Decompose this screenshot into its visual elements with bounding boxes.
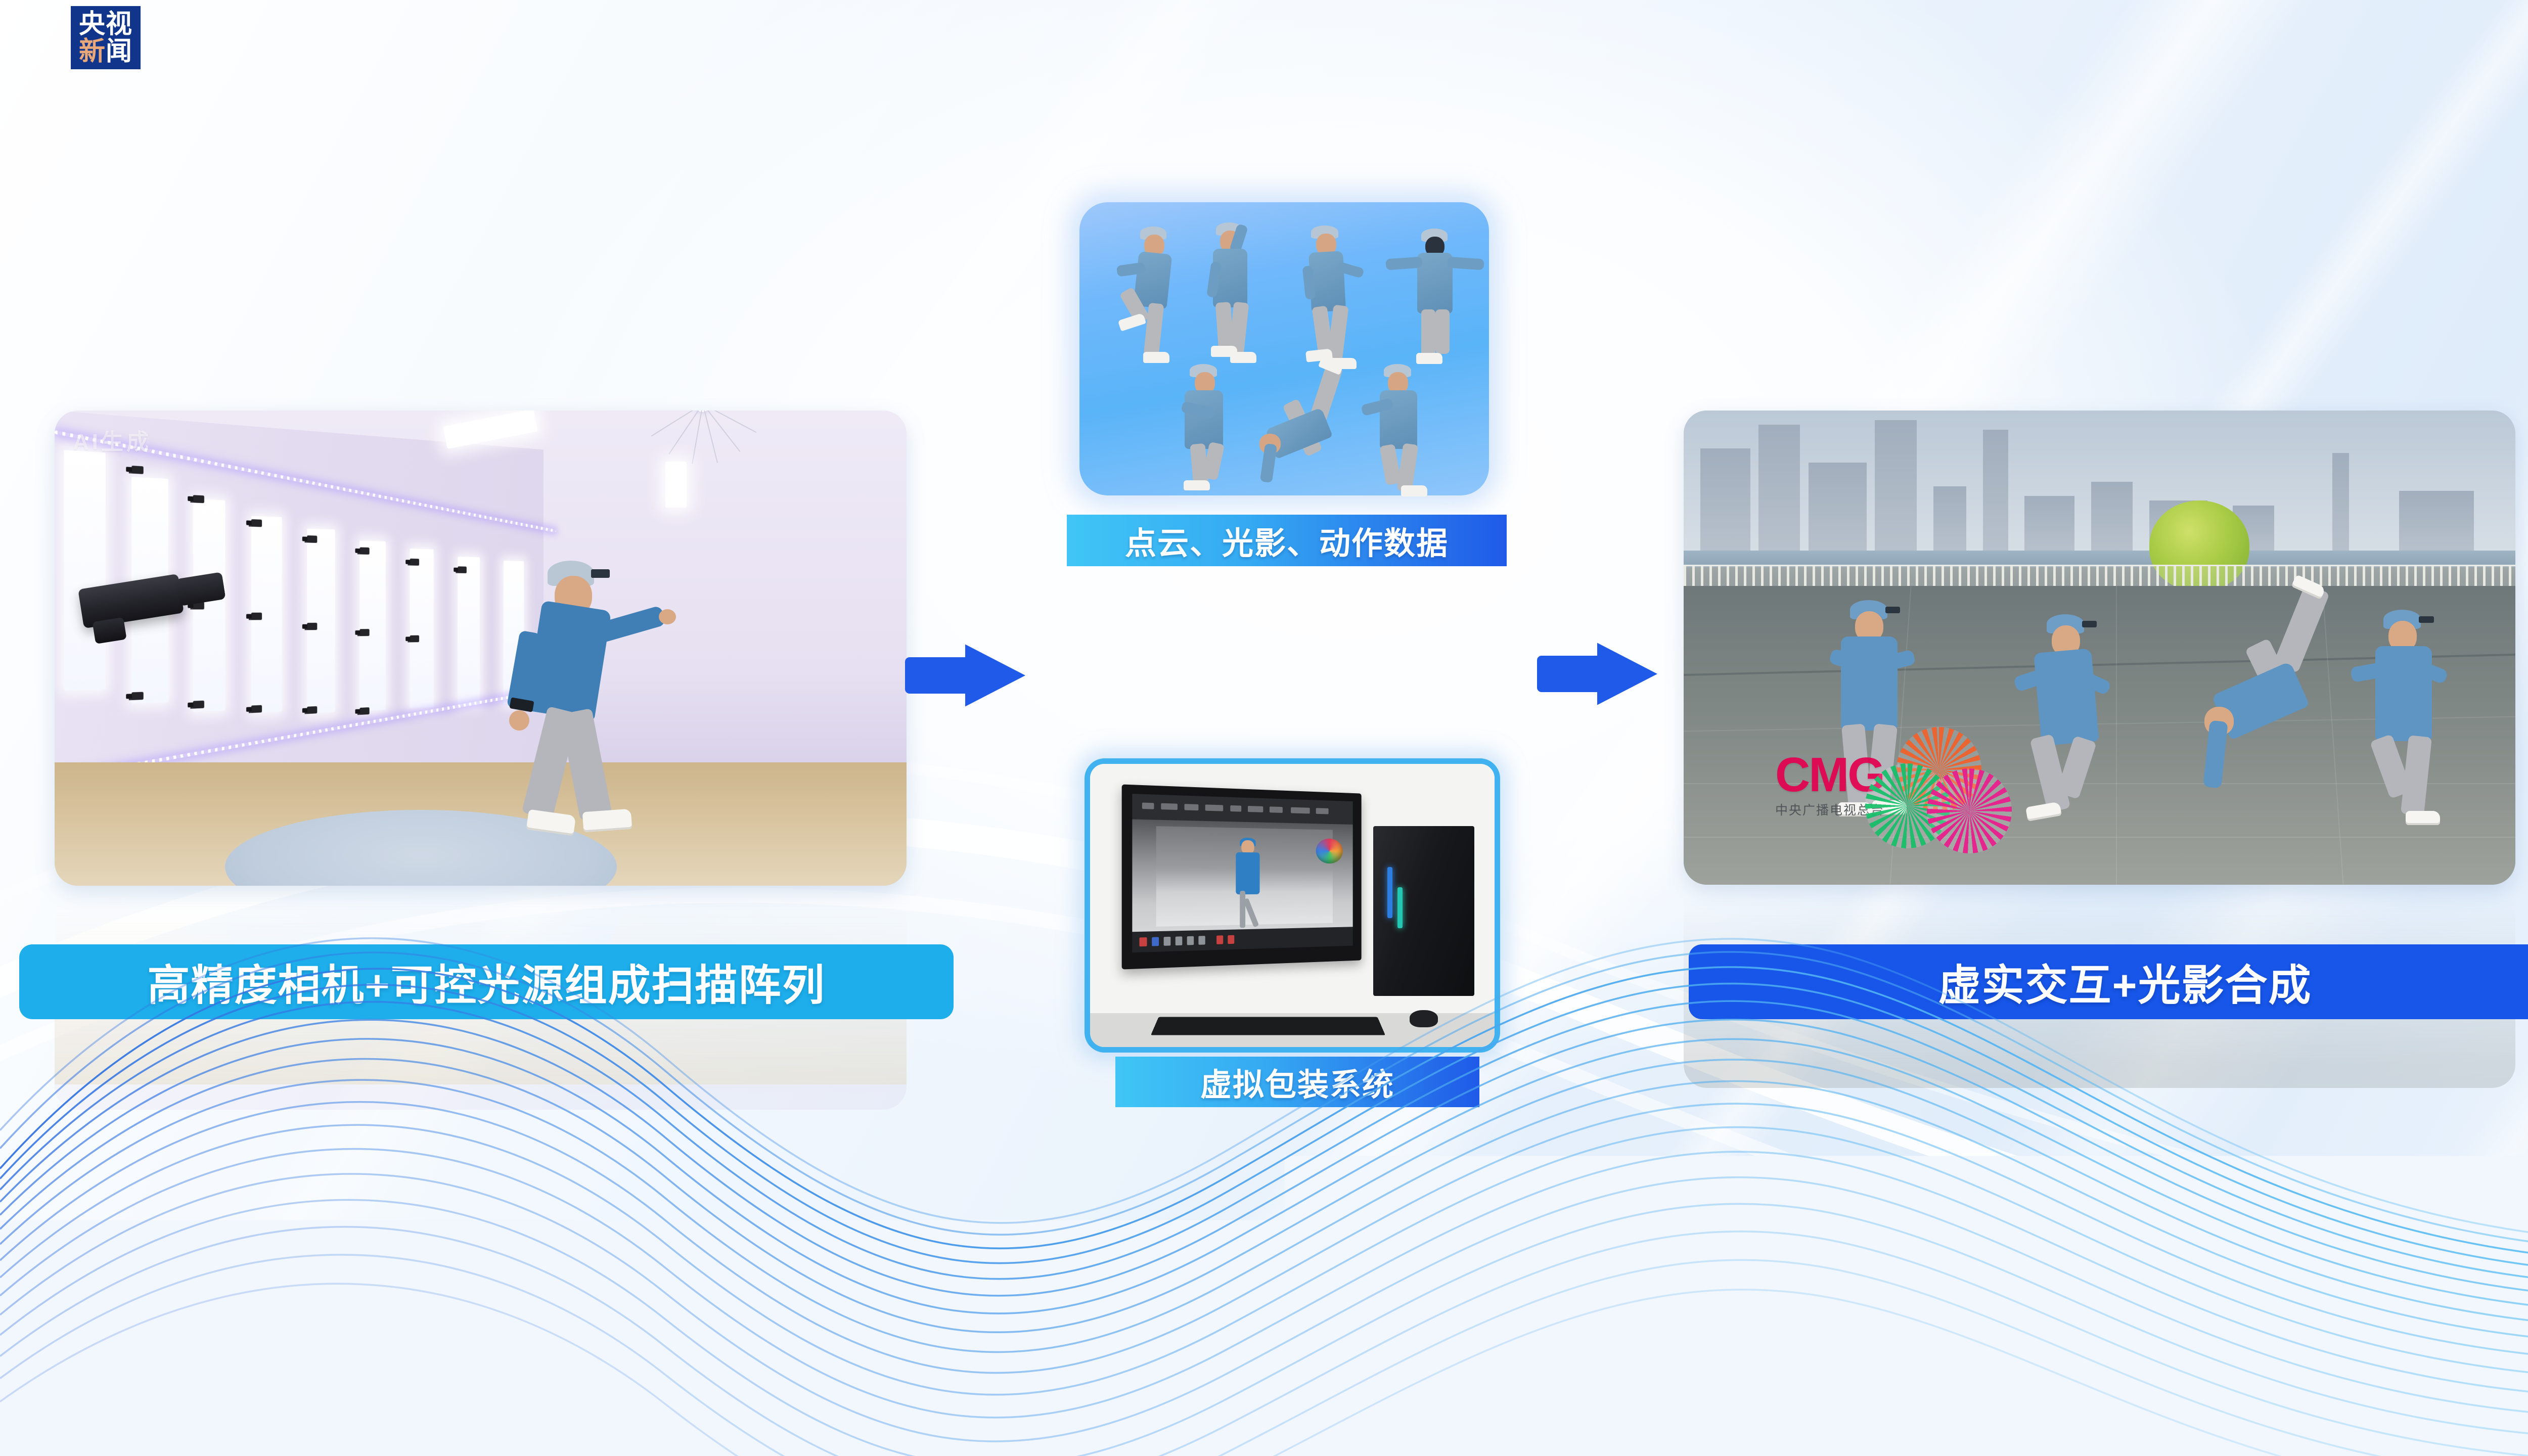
ceiling-rig bbox=[549, 411, 855, 506]
cctv-news-logo: 央视 新 闻 bbox=[71, 6, 141, 69]
composited-dancer bbox=[2016, 614, 2133, 832]
cmg-watermark: CMG 中央广播电视总台 bbox=[1775, 753, 1884, 818]
ai-generated-watermark: AI生成 bbox=[73, 424, 152, 456]
composited-dancer bbox=[2357, 610, 2473, 827]
workstation-label-text: 虚拟包装系统 bbox=[1200, 1059, 1394, 1105]
logo-line-2-white: 闻 bbox=[106, 38, 132, 65]
pose-figure bbox=[1120, 226, 1186, 363]
left-caption-banner: 高精度相机+可控光源组成扫描阵列 bbox=[19, 944, 954, 1019]
pc-tower bbox=[1373, 826, 1474, 996]
left-caption-text: 高精度相机+可控光源组成扫描阵列 bbox=[147, 951, 825, 1013]
pose-figure bbox=[1257, 369, 1359, 490]
arrow-stage-to-data bbox=[905, 634, 1025, 716]
arrow-data-to-output bbox=[1537, 633, 1657, 715]
pose-figure bbox=[1171, 364, 1242, 490]
mouse bbox=[1410, 1010, 1438, 1027]
pose-cloud-card bbox=[1079, 202, 1489, 495]
monitor bbox=[1122, 785, 1362, 970]
pose-cloud-label: 点云、光影、动作数据 bbox=[1067, 515, 1507, 566]
pose-figure bbox=[1200, 222, 1266, 369]
composited-dancer bbox=[2199, 610, 2351, 827]
pose-cloud-label-text: 点云、光影、动作数据 bbox=[1125, 518, 1449, 563]
pose-figure bbox=[1363, 364, 1449, 495]
workstation-label: 虚拟包装系统 bbox=[1115, 1057, 1479, 1107]
pose-figure bbox=[1388, 229, 1474, 370]
workstation-card bbox=[1085, 758, 1500, 1053]
logo-line-1: 央视 bbox=[79, 11, 132, 37]
right-photo-panel: CMG 中央广播电视总台 bbox=[1684, 411, 2515, 885]
pose-figure bbox=[1297, 225, 1368, 377]
infographic-canvas: 央视 新 闻 bbox=[0, 0, 2528, 1456]
dancer-figure bbox=[481, 563, 683, 846]
digital-avatar bbox=[1230, 840, 1266, 929]
keyboard bbox=[1151, 1017, 1385, 1035]
logo-line-2-orange: 新 bbox=[79, 38, 106, 65]
left-photo-panel: AI生成 bbox=[55, 411, 907, 886]
material-preview-sphere bbox=[1316, 839, 1343, 864]
right-caption-text: 虚实交互+光影合成 bbox=[1938, 951, 2312, 1013]
right-caption-banner: 虚实交互+光影合成 bbox=[1689, 944, 2528, 1019]
